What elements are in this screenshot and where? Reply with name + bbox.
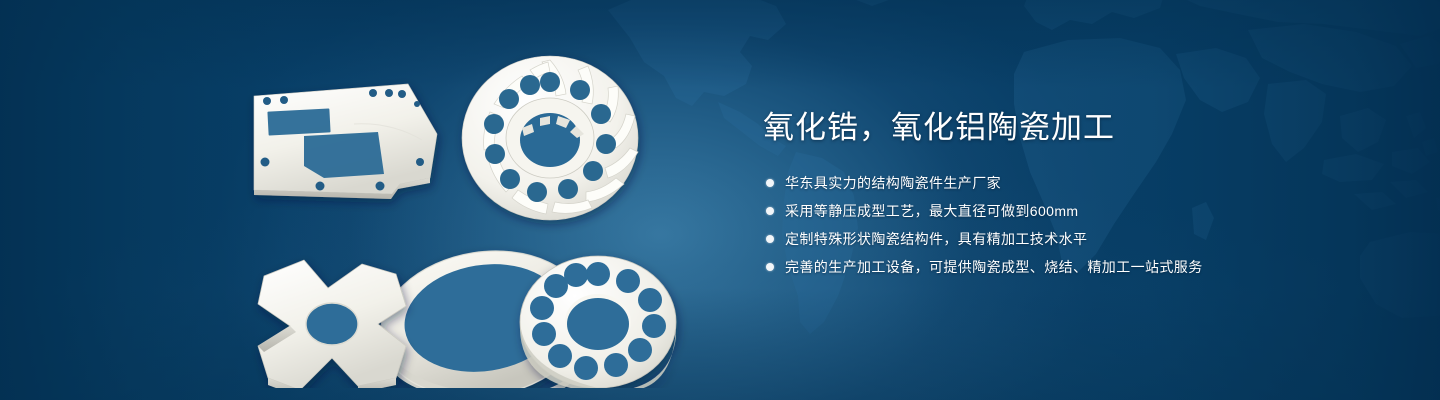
filled-circle-icon	[766, 207, 774, 215]
promo-banner: 氧化锆，氧化铝陶瓷加工 华东具实力的结构陶瓷件生产厂家 采用等静压成型工艺，最大…	[0, 0, 1440, 400]
list-item-label: 完善的生产加工设备，可提供陶瓷成型、烧结、精加工一站式服务	[785, 259, 1203, 275]
list-item: 定制特殊形状陶瓷结构件，具有精加工技术水平	[763, 230, 1383, 248]
banner-copy: 氧化锆，氧化铝陶瓷加工 华东具实力的结构陶瓷件生产厂家 采用等静压成型工艺，最大…	[763, 108, 1383, 286]
feature-list: 华东具实力的结构陶瓷件生产厂家 采用等静压成型工艺，最大直径可做到600mm 定…	[763, 174, 1383, 276]
ceramic-perforated-disc	[520, 256, 676, 388]
list-item-label: 采用等静压成型工艺，最大直径可做到600mm	[785, 203, 1078, 219]
list-item: 采用等静压成型工艺，最大直径可做到600mm	[763, 202, 1383, 220]
filled-circle-icon	[766, 263, 774, 271]
page-title: 氧化锆，氧化铝陶瓷加工	[763, 108, 1383, 148]
ceramic-flat-plate-with-cutouts	[254, 84, 437, 199]
ceramic-impeller-with-vanes	[462, 56, 638, 220]
product-photo	[232, 38, 702, 388]
list-item-label: 华东具实力的结构陶瓷件生产厂家	[785, 175, 1001, 191]
filled-circle-icon	[766, 179, 774, 187]
filled-circle-icon	[766, 235, 774, 243]
list-item-label: 定制特殊形状陶瓷结构件，具有精加工技术水平	[785, 231, 1087, 247]
list-item: 华东具实力的结构陶瓷件生产厂家	[763, 174, 1383, 192]
list-item: 完善的生产加工设备，可提供陶瓷成型、烧结、精加工一站式服务	[763, 258, 1383, 276]
